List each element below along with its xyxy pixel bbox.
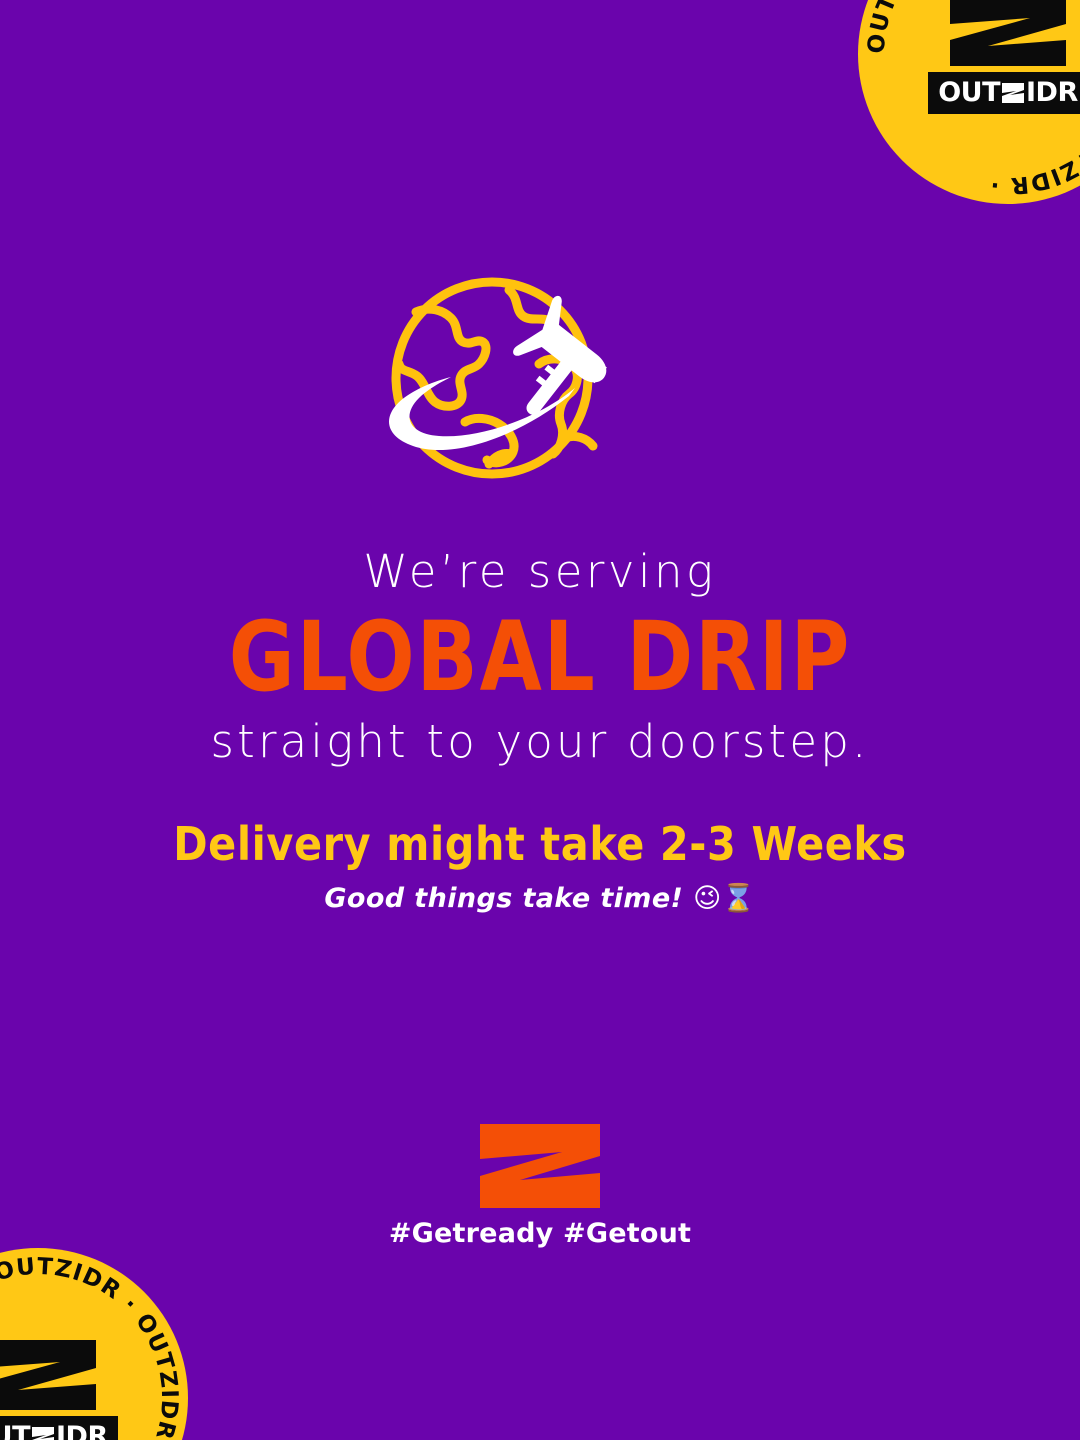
page-title: GLOBAL DRIP — [75, 601, 1005, 714]
globe-airplane-icon — [369, 276, 711, 498]
outzidr-sticker-bottom-left: OUTZIDR · OUTZIDR · OUTZIDR · OUTZIDR · … — [0, 1248, 188, 1440]
z-logo-icon — [0, 1338, 104, 1412]
badge-center-word: OUT IDR — [0, 1416, 118, 1440]
badge-word-right: IDR — [56, 1423, 108, 1440]
poster-canvas: OUTZIDR · OUTZIDR · OUTZIDR · OUTZIDR · … — [0, 0, 1080, 1440]
badge-center-top-right: OUT IDR — [924, 0, 1080, 114]
delivery-notice-block: Delivery might take 2-3 Weeks Good thing… — [0, 818, 1080, 915]
wink-face-emoji: 😉 — [693, 883, 722, 914]
z-mark-icon — [31, 1426, 55, 1440]
headline-block: We’re serving GLOBAL DRIP straight to yo… — [0, 548, 1080, 766]
headline-eyebrow: We’re serving — [40, 548, 1040, 595]
delivery-reassurance-text: Good things take time! — [324, 883, 683, 914]
badge-word-left: OUT — [0, 1423, 30, 1440]
z-logo-icon — [942, 0, 1074, 68]
footer-block: #Getready #Getout — [0, 1122, 1080, 1249]
delivery-time-text: Delivery might take 2-3 Weeks — [0, 818, 1080, 871]
delivery-reassurance-line: Good things take time! 😉⌛ — [0, 883, 1080, 915]
badge-center-bottom-left: OUT IDR — [0, 1338, 122, 1440]
badge-word-right: IDR — [1026, 79, 1078, 106]
z-mark-icon — [1001, 82, 1025, 104]
badge-word-left: OUT — [938, 79, 1000, 106]
headline-subtitle: straight to your doorstep. — [40, 717, 1040, 767]
badge-center-word: OUT IDR — [928, 72, 1080, 114]
hourglass-emoji: ⌛ — [722, 883, 756, 914]
outzidr-sticker-top-right: OUTZIDR · OUTZIDR · OUTZIDR · OUTZIDR · … — [858, 0, 1080, 204]
outzidr-z-logo — [476, 1122, 604, 1210]
footer-tagline: #Getready #Getout — [389, 1218, 691, 1249]
